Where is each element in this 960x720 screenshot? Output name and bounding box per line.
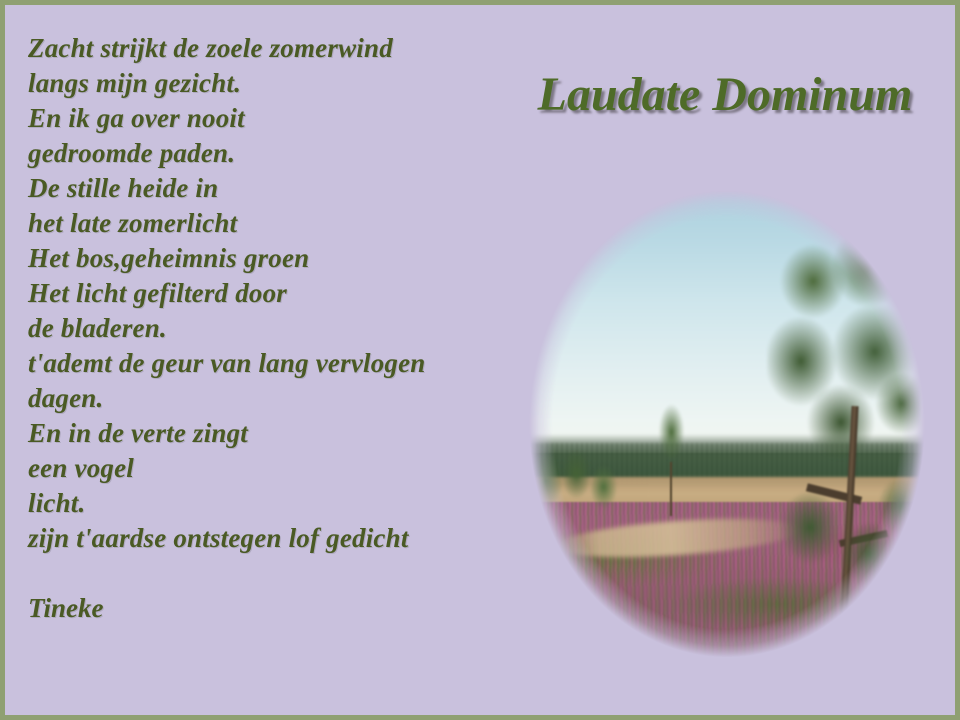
left-tree-clump bbox=[529, 443, 620, 521]
pine-lower-foliage bbox=[776, 467, 918, 619]
poem-line: En ik ga over nooit bbox=[28, 101, 508, 136]
midground-tree bbox=[653, 395, 690, 512]
poem-line: Het bos,geheimnis groen bbox=[28, 241, 508, 276]
poem-line: En in de verte zingt bbox=[28, 416, 508, 451]
slide: Zacht strijkt de zoele zomerwind langs m… bbox=[0, 0, 960, 720]
midground-tree-trunk bbox=[670, 462, 672, 516]
poem-line: t'ademt de geur van lang vervlogen bbox=[28, 346, 508, 381]
poem-line: gedroomde paden. bbox=[28, 136, 508, 171]
poem-line: de bladeren. bbox=[28, 311, 508, 346]
foreground-pine-tree bbox=[760, 239, 925, 618]
poem-spacer-line bbox=[28, 556, 508, 591]
poem-line: Zacht strijkt de zoele zomerwind bbox=[28, 31, 508, 66]
poem-line: dagen. bbox=[28, 381, 508, 416]
pine-crown bbox=[767, 239, 922, 474]
photo-frame bbox=[521, 181, 933, 667]
poem-line: langs mijn gezicht. bbox=[28, 66, 508, 101]
poem-line: Het licht gefilterd door bbox=[28, 276, 508, 311]
poem-line: licht. bbox=[28, 486, 508, 521]
poem-line: het late zomerlicht bbox=[28, 206, 508, 241]
poem-line: een vogel bbox=[28, 451, 508, 486]
poem-block: Zacht strijkt de zoele zomerwind langs m… bbox=[28, 31, 508, 626]
page-title: Laudate Dominum bbox=[525, 67, 925, 123]
poem-signature: Tineke bbox=[28, 591, 508, 626]
heathland-landscape-photo bbox=[521, 181, 933, 667]
poem-line: De stille heide in bbox=[28, 171, 508, 206]
poem-line: zijn t'aardse ontstegen lof gedicht bbox=[28, 521, 508, 556]
